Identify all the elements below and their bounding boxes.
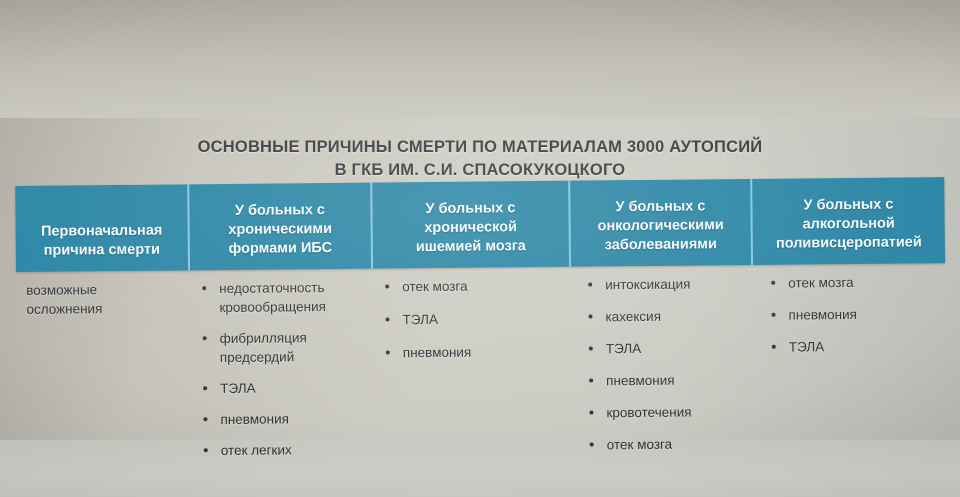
list-item-line: ТЭЛА — [789, 336, 944, 356]
slide-title-line: ОСНОВНЫЕ ПРИЧИНЫ СМЕРТИ ПО МАТЕРИАЛАМ 30… — [0, 136, 960, 159]
table-header-cell-2: У больных схроническойишемией мозга — [372, 181, 571, 269]
list-item: ТЭЛА — [585, 338, 752, 359]
list-item-line: интоксикация — [605, 274, 751, 294]
table-header-cell-1: У больных схроническимиформами ИБС — [189, 183, 373, 271]
list-item-line: отек мозга — [788, 272, 943, 292]
list-item-line: ТЭЛА — [402, 309, 569, 330]
list-item: отек мозга — [767, 272, 943, 293]
list-item: отек легких — [200, 440, 373, 461]
slide-photo: ОСНОВНЫЕ ПРИЧИНЫ СМЕРТИ ПО МАТЕРИАЛАМ 30… — [0, 0, 960, 497]
table-header-line: Первоначальная — [41, 222, 162, 242]
table-header-line: поливисцеропатией — [776, 233, 922, 253]
list-item-line: фибрилляция — [220, 328, 372, 348]
table-header-line: хронической — [416, 218, 526, 238]
list-item: пневмония — [199, 409, 372, 430]
table-header-line: У больных с — [597, 197, 723, 217]
bullet-list: отек мозгаТЭЛАпневмония — [381, 276, 570, 363]
list-item: фибрилляцияпредсердий — [199, 328, 372, 368]
list-item-line: ТЭЛА — [606, 338, 752, 358]
table-header-cell-0: Первоначальнаяпричина смерти — [15, 184, 190, 272]
table-body-cell-0: возможныеосложнения — [16, 270, 192, 474]
table-header-line: ишемией мозга — [416, 237, 526, 257]
list-item: пневмония — [767, 304, 943, 325]
table-header-line: формами ИБС — [228, 239, 332, 259]
list-item-line: отек мозга — [607, 434, 753, 454]
list-item-line: недостаточность — [219, 278, 371, 298]
table-body-cell-4: отек мозгапневмонияТЭЛА — [753, 263, 947, 467]
table-header-line: онкологическими — [597, 216, 723, 236]
table-header-row: Первоначальнаяпричина смертиУ больных сх… — [15, 177, 945, 272]
list-item: кровотечения — [585, 402, 752, 423]
list-item-line: пневмония — [403, 342, 570, 363]
list-item: кахексия — [584, 306, 751, 327]
bullet-list: отек мозгапневмонияТЭЛА — [767, 272, 944, 357]
list-item-line: кровообращения — [219, 297, 371, 317]
table-body-cell-1: недостаточностькровообращенияфибрилляция… — [190, 269, 375, 473]
list-item: ТЭЛА — [199, 378, 372, 399]
table-cell-text-line: возможные — [26, 279, 186, 300]
table-header-line: хроническими — [228, 220, 332, 240]
list-item: отек мозга — [586, 434, 753, 455]
table-header-cell-3: У больных сонкологическимизаболеваниями — [570, 179, 753, 267]
background-band-top — [0, 0, 960, 118]
table-header-line: У больных с — [415, 199, 525, 219]
list-item: пневмония — [585, 370, 752, 391]
table-body-cell-2: отек мозгаТЭЛАпневмония — [373, 267, 573, 471]
list-item-line: отек мозга — [402, 276, 569, 297]
death-causes-table: Первоначальнаяпричина смертиУ больных сх… — [15, 177, 947, 474]
list-item-line: пневмония — [220, 409, 372, 429]
list-item: пневмония — [382, 342, 570, 363]
table-header-line: заболеваниями — [598, 235, 724, 255]
table-header-line: причина смерти — [41, 241, 162, 261]
slide-title: ОСНОВНЫЕ ПРИЧИНЫ СМЕРТИ ПО МАТЕРИАЛАМ 30… — [0, 136, 960, 182]
list-item-line: пневмония — [788, 304, 943, 324]
table-header-line: У больных с — [775, 195, 921, 215]
table-cell-text-line: осложнения — [26, 298, 186, 319]
list-item-line: ТЭЛА — [220, 378, 372, 398]
table-header-line: У больных с — [228, 201, 332, 221]
list-item-line: пневмония — [606, 370, 752, 390]
list-item-line: кровотечения — [606, 402, 752, 422]
table-cell-text: возможныеосложнения — [26, 279, 186, 319]
list-item: интоксикация — [584, 274, 751, 295]
table-body-row: возможныеосложнениянедостаточностькровоо… — [16, 263, 947, 474]
list-item-line: отек легких — [221, 440, 373, 460]
table-header-cell-4: У больных салкогольнойполивисцеропатией — [752, 177, 945, 265]
list-item-line: кахексия — [605, 306, 751, 326]
list-item: недостаточностькровообращения — [198, 278, 371, 318]
list-item: ТЭЛА — [768, 336, 944, 357]
list-item-line: предсердий — [220, 347, 372, 367]
list-item: отек мозга — [381, 276, 569, 297]
bullet-list: недостаточностькровообращенияфибрилляция… — [198, 278, 373, 461]
table-header-line: алкогольной — [776, 214, 922, 234]
list-item: ТЭЛА — [381, 309, 569, 330]
bullet-list: интоксикациякахексияТЭЛАпневмониякровоте… — [584, 274, 753, 455]
table-body-cell-3: интоксикациякахексияТЭЛАпневмониякровоте… — [571, 265, 755, 469]
